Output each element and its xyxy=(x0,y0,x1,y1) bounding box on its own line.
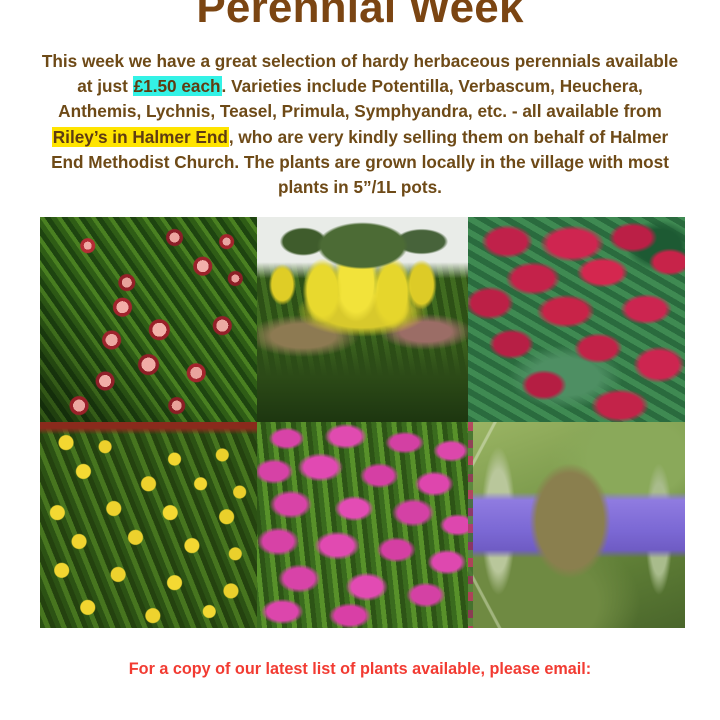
photo-gallery-grid xyxy=(40,217,685,628)
announcement-paragraph: This week we have a great selection of h… xyxy=(36,49,684,200)
email-request-text: For a copy of our latest list of plants … xyxy=(0,658,720,680)
potentilla-photo xyxy=(40,217,257,422)
heuchera-photo xyxy=(468,217,685,422)
lychnis-photo xyxy=(257,422,468,628)
page-title: Perennial Week xyxy=(0,0,720,30)
verbascum-photo xyxy=(257,217,468,422)
supplier-highlight: Riley’s in Halmer End xyxy=(52,127,229,147)
teasel-photo xyxy=(468,422,685,628)
anthemis-photo xyxy=(40,422,257,628)
price-highlight: £1.50 each xyxy=(133,76,222,96)
